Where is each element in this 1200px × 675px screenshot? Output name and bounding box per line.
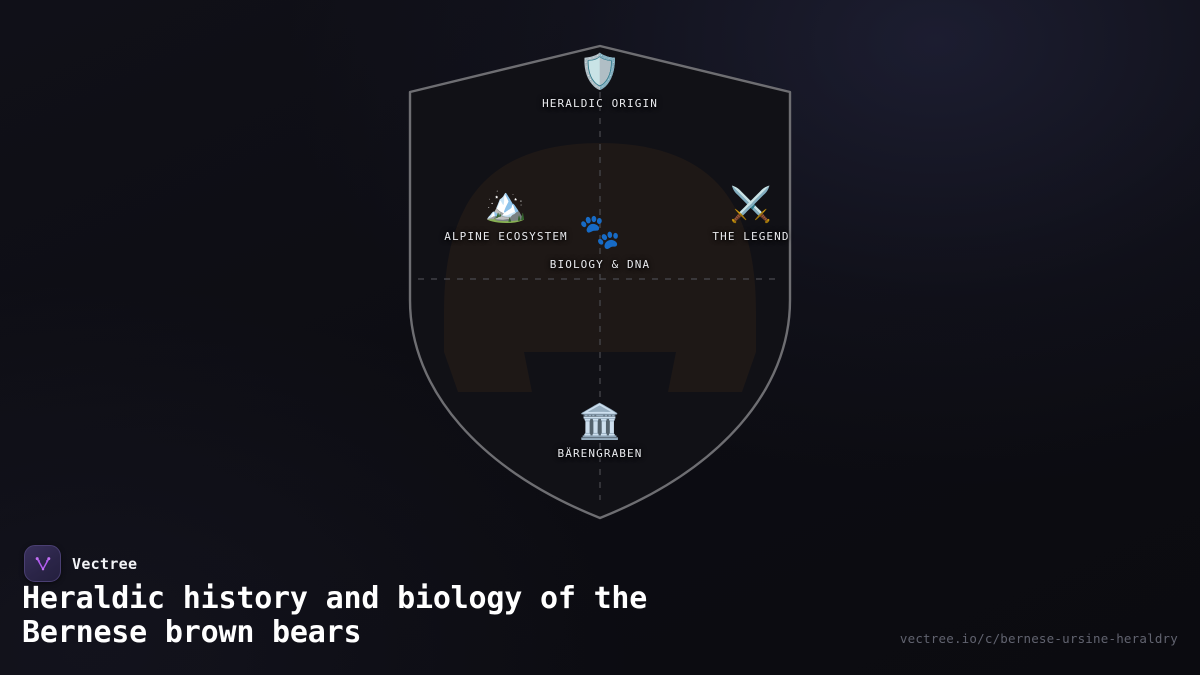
emblem-node-heraldic-origin[interactable]: 🛡️ HERALDIC ORIGIN xyxy=(490,52,710,110)
emblem-node-label: BÄRENGRABEN xyxy=(558,447,643,460)
emblem-node-label: THE LEGEND xyxy=(712,230,789,243)
footer-bar: Vectree Heraldic history and biology of … xyxy=(0,540,1200,675)
emblem-node-baerengraben[interactable]: 🏛️ BÄRENGRABEN xyxy=(490,402,710,460)
canvas-root: 🛡️ HERALDIC ORIGIN 🏔️ ALPINE ECOSYSTEM 🐾… xyxy=(0,0,1200,675)
classical-building-icon: 🏛️ xyxy=(579,402,621,442)
vectree-logo-icon xyxy=(24,545,61,582)
emblem-node-the-legend[interactable]: ⚔️ THE LEGEND xyxy=(641,185,861,243)
paw-prints-icon: 🐾 xyxy=(579,212,621,252)
permalink-url: vectree.io/c/bernese-ursine-heraldry xyxy=(900,631,1178,646)
crossed-swords-icon: ⚔️ xyxy=(730,185,772,225)
emblem-node-label: BIOLOGY & DNA xyxy=(550,258,650,271)
shield-icon: 🛡️ xyxy=(579,52,621,92)
page-title: Heraldic history and biology of the Bern… xyxy=(22,582,822,649)
emblem-node-label: HERALDIC ORIGIN xyxy=(542,97,658,110)
brand-lockup[interactable]: Vectree xyxy=(24,545,137,582)
emblem-graphic: 🛡️ HERALDIC ORIGIN 🏔️ ALPINE ECOSYSTEM 🐾… xyxy=(0,0,1200,540)
brand-name: Vectree xyxy=(72,555,137,573)
